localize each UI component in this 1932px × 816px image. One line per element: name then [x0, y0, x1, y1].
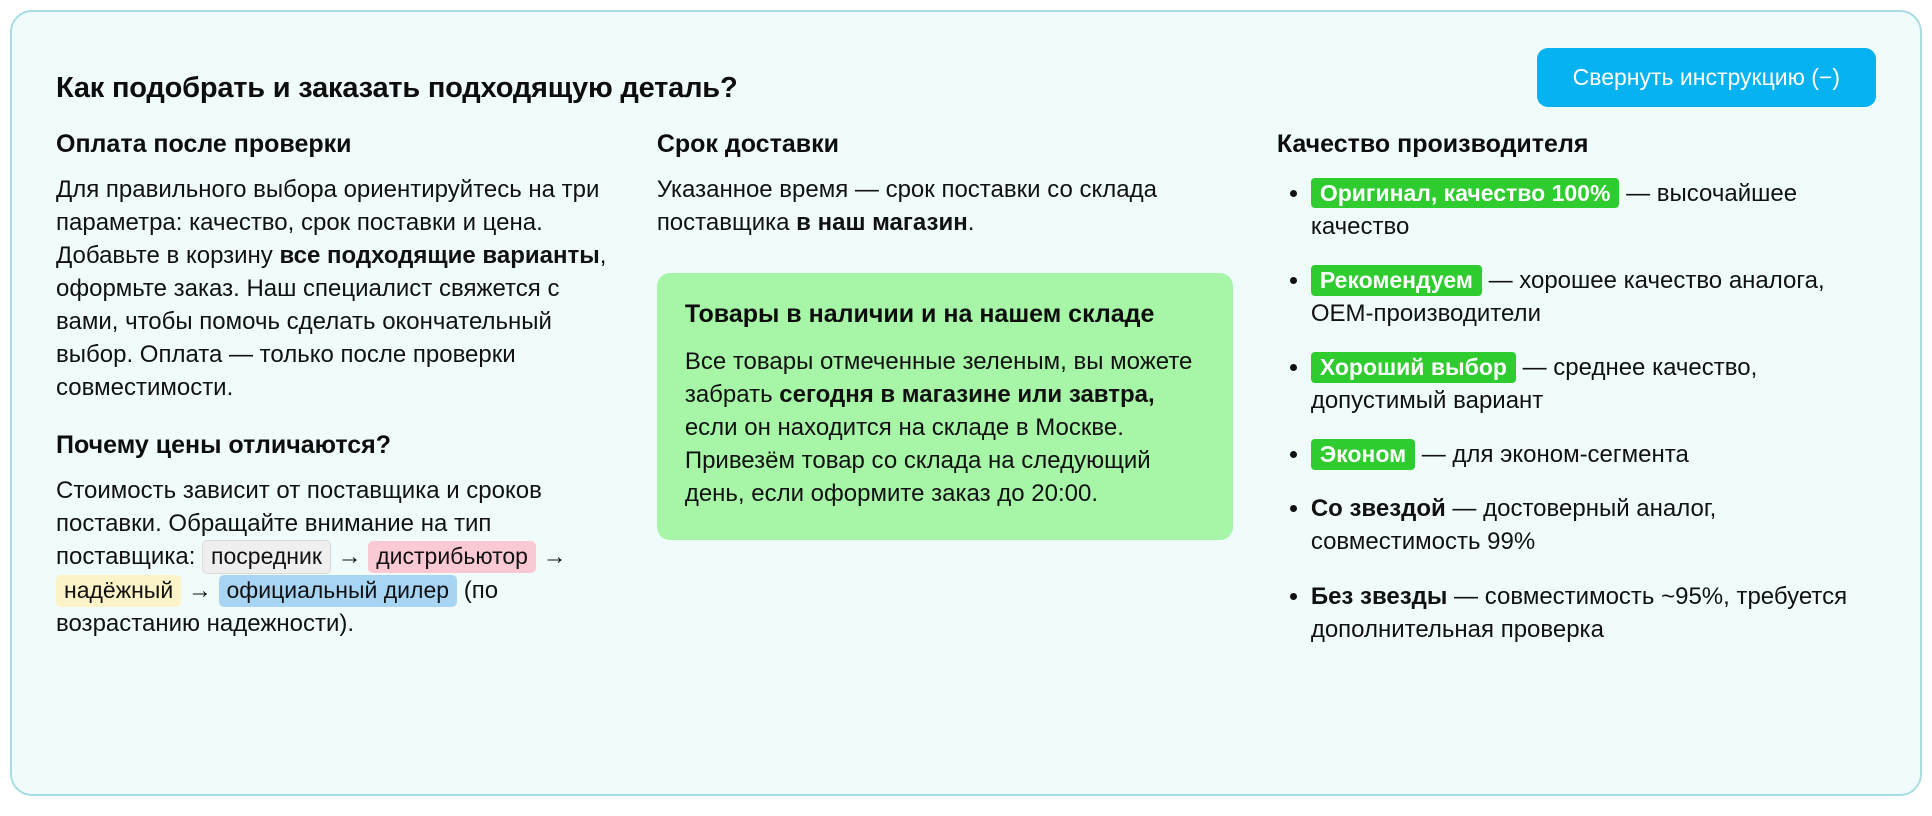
panel-header: Как подобрать и заказать подходящую дета… — [56, 48, 1876, 107]
text-part-bold: в наш магазин — [796, 209, 968, 236]
quality-list: Оригинал, качество 100% — высочайшее кач… — [1277, 177, 1876, 646]
arrow-icon-2: → — [543, 543, 567, 570]
quality-badge: Рекомендуем — [1311, 265, 1482, 296]
heading-delivery-time: Срок доставки — [657, 129, 1229, 160]
text-part-c: . — [968, 209, 975, 236]
paragraph-why-prices-differ: Стоимость зависит от поставщика и сроков… — [56, 474, 609, 640]
quality-text: — для эконом-сегмента — [1415, 441, 1689, 468]
instruction-panel: Как подобрать и заказать подходящую дета… — [10, 10, 1922, 796]
quality-badge: Хороший выбор — [1311, 352, 1516, 383]
list-item: Эконом — для эконом-сегмента — [1311, 438, 1876, 471]
content-columns: Оплата после проверки Для правильного вы… — [56, 129, 1876, 645]
quality-bold-label: Со звездой — [1311, 495, 1446, 522]
text-part-c: если он находится на складе в Москве. Пр… — [685, 414, 1151, 507]
text-part-bold: все подходящие варианты — [279, 242, 599, 269]
page-root: Как подобрать и заказать подходящую дета… — [0, 0, 1932, 816]
list-item: Без звезды — совместимость ~95%, требует… — [1311, 580, 1876, 646]
in-stock-card-body: Все товары отмеченные зеленым, вы можете… — [685, 345, 1205, 511]
column-delivery: Срок доставки Указанное время — срок пос… — [657, 129, 1277, 540]
heading-payment-after-check: Оплата после проверки — [56, 129, 609, 160]
paragraph-payment-after-check: Для правильного выбора ориентируйтесь на… — [56, 173, 609, 405]
page-title: Как подобрать и заказать подходящую дета… — [56, 72, 737, 105]
column-quality: Качество производителя Оригинал, качеств… — [1277, 129, 1876, 645]
quality-badge: Эконом — [1311, 439, 1415, 470]
column-payment: Оплата после проверки Для правильного вы… — [56, 129, 657, 640]
collapse-instruction-button[interactable]: Свернуть инструкцию (−) — [1537, 48, 1876, 107]
list-item: Хороший выбор — среднее качество, допуст… — [1311, 351, 1876, 417]
heading-manufacturer-quality: Качество производителя — [1277, 129, 1876, 160]
quality-bold-label: Без звезды — [1311, 583, 1448, 610]
in-stock-card-title: Товары в наличии и на нашем складе — [685, 299, 1205, 331]
tag-official-dealer: официальный дилер — [219, 575, 458, 607]
tag-reliable: надёжный — [56, 575, 181, 607]
tag-intermediary: посредник — [202, 540, 331, 574]
quality-badge: Оригинал, качество 100% — [1311, 178, 1620, 209]
tag-distributor: дистрибьютор — [368, 541, 536, 573]
paragraph-delivery-time: Указанное время — срок поставки со склад… — [657, 173, 1229, 239]
heading-why-prices-differ: Почему цены отличаются? — [56, 430, 609, 461]
arrow-icon-1: → — [338, 543, 362, 570]
in-stock-card: Товары в наличии и на нашем складе Все т… — [657, 273, 1233, 540]
list-item: Рекомендуем — хорошее качество аналога, … — [1311, 264, 1876, 330]
arrow-icon-3: → — [188, 577, 212, 604]
list-item: Оригинал, качество 100% — высочайшее кач… — [1311, 177, 1876, 243]
list-item: Со звездой — достоверный аналог, совмест… — [1311, 492, 1876, 558]
text-part-bold: сегодня в магазине или завтра, — [779, 381, 1154, 408]
